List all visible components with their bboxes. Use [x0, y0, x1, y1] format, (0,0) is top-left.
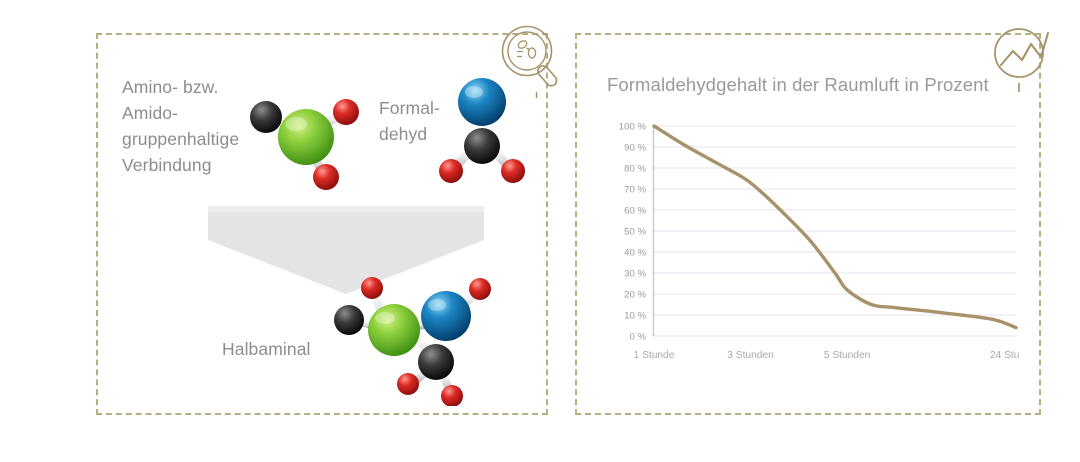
- carbon-atom: [418, 344, 454, 380]
- y-tick-label: 80 %: [624, 163, 646, 174]
- trend-chart-icon: [986, 20, 1064, 98]
- oxygen-atom: [333, 99, 359, 125]
- slide-canvas: Amino- bzw. Amido- gruppenhaltige Verbin…: [0, 0, 1080, 462]
- carbon-atom: [250, 101, 282, 133]
- y-tick-label: 70 %: [624, 184, 646, 195]
- y-tick-label: 20 %: [624, 289, 646, 300]
- x-tick-label: 5 Stunden: [824, 350, 870, 361]
- chart-title: Formaldehydgehalt in der Raumluft in Pro…: [607, 74, 989, 96]
- data-series-line: [654, 126, 1016, 328]
- formaldehyde-molecule: [428, 68, 536, 190]
- oxygen-atom: [439, 159, 463, 183]
- oxygen-atom: [361, 277, 383, 299]
- y-tick-label: 40 %: [624, 247, 646, 258]
- x-tick-label: 3 Stunden: [727, 350, 773, 361]
- oxygen-atom: [469, 278, 491, 300]
- oxygen-atom: [441, 385, 463, 406]
- x-axis-ticks: 1 Stunde3 Stunden5 Stunden24 Stunden: [634, 350, 1020, 361]
- x-tick-label: 24 Stunden: [990, 350, 1020, 361]
- nitrogen-atom: [458, 78, 506, 126]
- oxygen-atom: [397, 373, 419, 395]
- nitrogen-atom: [421, 291, 471, 341]
- y-axis-ticks: 100 %90 %80 %70 %60 %50 %40 %30 %20 %10 …: [619, 121, 647, 342]
- y-tick-label: 0 %: [629, 331, 646, 342]
- y-tick-label: 60 %: [624, 205, 646, 216]
- product-label: Halbaminal: [222, 336, 402, 362]
- carbon-atom: [334, 305, 364, 335]
- y-tick-label: 30 %: [624, 268, 646, 279]
- y-tick-label: 50 %: [624, 226, 646, 237]
- oxygen-atom: [313, 164, 339, 190]
- carbon-atom: [464, 128, 500, 164]
- center-atom: [278, 109, 334, 165]
- x-tick-label: 1 Stunde: [634, 350, 675, 361]
- amino-compound-molecule: [236, 82, 376, 197]
- y-tick-label: 10 %: [624, 310, 646, 321]
- line-chart: 100 %90 %80 %70 %60 %50 %40 %30 %20 %10 …: [600, 118, 1020, 383]
- y-tick-label: 90 %: [624, 142, 646, 153]
- oxygen-atom: [501, 159, 525, 183]
- chart-svg: 100 %90 %80 %70 %60 %50 %40 %30 %20 %10 …: [600, 118, 1020, 383]
- y-tick-label: 100 %: [619, 121, 647, 132]
